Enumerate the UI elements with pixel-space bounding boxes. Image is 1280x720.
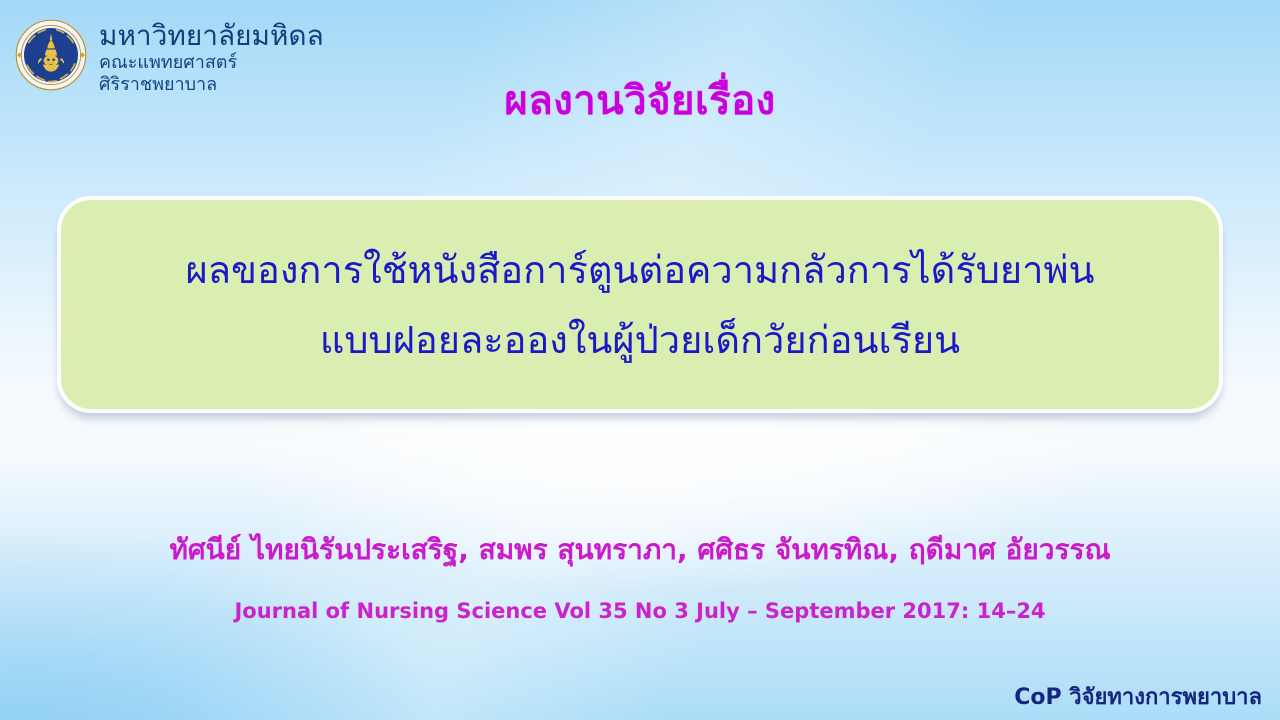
brand-header: มหาวิทยาลัยมหิดล คณะแพทยศาสตร์ ศิริราชพย… (14, 18, 324, 94)
brand-text-block: มหาวิทยาลัยมหิดล คณะแพทยศาสตร์ ศิริราชพย… (99, 18, 324, 94)
research-title-line-2: แบบฝอยละอองในผู้ป่วยเด็กวัยก่อนเรียน (320, 321, 960, 359)
research-title-line-1: ผลของการใช้หนังสือการ์ตูนต่อความกลัวการไ… (186, 251, 1095, 289)
journal-citation: Journal of Nursing Science Vol 35 No 3 J… (0, 599, 1280, 623)
faculty-name: คณะแพทยศาสตร์ (99, 54, 324, 72)
hospital-name: ศิริราชพยาบาล (99, 76, 324, 94)
university-name: มหาวิทยาลัยมหิดล (99, 22, 324, 50)
research-title-card: ผลของการใช้หนังสือการ์ตูนต่อความกลัวการไ… (57, 196, 1223, 413)
footer-cop-label: CoP วิจัยทางการพยาบาล (1014, 679, 1262, 714)
presentation-slide: มหาวิทยาลัยมหิดล คณะแพทยศาสตร์ ศิริราชพย… (0, 0, 1280, 720)
mahidol-university-seal-icon (14, 18, 88, 92)
author-list: ทัศนีย์ ไทยนิรันประเสริฐ, สมพร สุนทราภา,… (0, 528, 1280, 572)
